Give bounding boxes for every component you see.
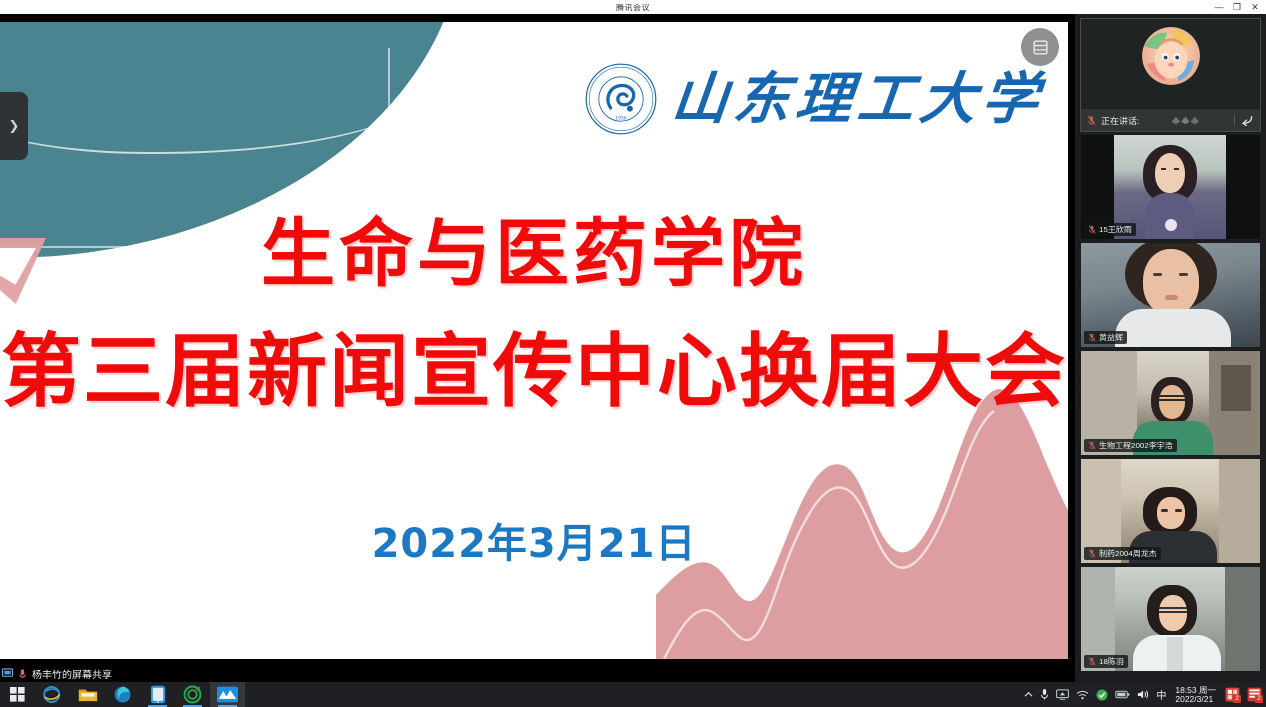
wifi-glyph <box>1076 689 1089 700</box>
window-controls: — ❐ ✕ <box>1210 0 1264 14</box>
screen-share-icon[interactable] <box>1056 689 1069 700</box>
avatar-cartoon-icon <box>1142 27 1200 85</box>
audio-waveform-icon <box>1145 114 1229 126</box>
layout-panel-icon[interactable] <box>1021 28 1059 66</box>
microphone-muted-icon <box>17 668 28 679</box>
mic-muted-icon <box>1088 333 1096 342</box>
screen-share-glyph <box>1056 689 1069 700</box>
participant-tile[interactable]: 制药2004周龙杰 <box>1081 459 1260 563</box>
360-browser-icon <box>183 685 202 704</box>
minimize-button[interactable]: — <box>1210 0 1228 14</box>
internet-explorer-button[interactable] <box>35 682 70 707</box>
slide-title-line-1: 生命与医药学院 <box>0 194 1068 301</box>
svg-text:1956: 1956 <box>615 117 626 122</box>
wifi-icon[interactable] <box>1076 689 1089 700</box>
window-title: 腾讯会议 <box>616 2 650 12</box>
layout-panel-glyph <box>1031 38 1050 57</box>
participant-name-chip: 18陈羽 <box>1084 655 1128 668</box>
battery-glyph <box>1115 690 1130 699</box>
speaker-glyph <box>1137 689 1149 700</box>
folder-icon <box>78 686 98 703</box>
participant-name: 18陈羽 <box>1099 656 1124 666</box>
university-name-text: 山东理工大学 <box>669 71 1047 127</box>
shield-icon[interactable] <box>1096 689 1108 701</box>
divider <box>1234 114 1235 126</box>
participant-name-chip: 黄益辉 <box>1084 331 1127 344</box>
phone-icon <box>150 685 166 704</box>
microphone-icon[interactable] <box>1040 688 1049 701</box>
taskbar-clock[interactable]: 18:53 周一 2022/3/21 <box>1175 686 1216 704</box>
mic-muted-icon <box>1088 441 1096 450</box>
ime-indicator[interactable]: 中 <box>1156 687 1166 702</box>
waveform-glyph <box>1167 114 1207 126</box>
avatar-glyph <box>1142 27 1200 85</box>
system-tray[interactable]: 中 18:53 周一 2022/3/21 2 2 <box>1024 682 1266 707</box>
start-button[interactable] <box>0 682 35 707</box>
microsoft-edge-button[interactable] <box>105 682 140 707</box>
slide-date: 2022年3月21日 <box>0 511 1068 569</box>
mic-muted-icon <box>1087 115 1096 126</box>
university-logo: 1956 山东理工大学 <box>584 62 1044 136</box>
shield-glyph <box>1096 689 1108 701</box>
taskbar-app-list <box>0 682 245 707</box>
battery-icon[interactable] <box>1115 690 1130 699</box>
clock-date: 2022/3/21 <box>1175 695 1213 704</box>
badge-count: 2 <box>1255 695 1263 703</box>
participant-tile[interactable]: 生物工程2002李宇浩 <box>1081 351 1260 455</box>
chevron-up-glyph <box>1024 690 1033 699</box>
presentation-slide: 1956 山东理工大学 生命与医药学院 第三届新闻宣传中心换届大会 2022年3… <box>0 22 1068 659</box>
clock-time: 18:53 周一 <box>1175 686 1216 695</box>
phone-link-button[interactable] <box>140 682 175 707</box>
maximize-button[interactable]: ❐ <box>1228 0 1246 14</box>
participant-rail[interactable]: 正在讲话: <box>1075 14 1266 682</box>
screen-share-icon <box>2 668 13 679</box>
share-status-text: 杨丰竹的屏幕共享 <box>32 666 112 680</box>
360-browser-button[interactable] <box>175 682 210 707</box>
participant-tile[interactable]: 15王欣雨 <box>1081 135 1260 239</box>
participant-name: 15王欣雨 <box>1099 224 1132 234</box>
participant-name: 制药2004周龙杰 <box>1099 548 1157 558</box>
university-seal-icon: 1956 <box>584 62 658 136</box>
badge-count: 2 <box>1233 695 1241 703</box>
participant-name-chip: 15王欣雨 <box>1084 223 1136 236</box>
windows-taskbar[interactable]: 中 18:53 周一 2022/3/21 2 2 <box>0 682 1266 707</box>
participant-name: 生物工程2002李宇浩 <box>1099 440 1173 450</box>
mic-muted-icon <box>1088 225 1096 234</box>
mic-muted-icon <box>1088 657 1096 666</box>
window-title-bar[interactable]: 腾讯会议 — ❐ ✕ <box>0 0 1266 14</box>
wechat-taskbar-badge[interactable]: 2 <box>1247 687 1262 702</box>
slide-title-line-2: 第三届新闻宣传中心换届大会 <box>0 307 1068 423</box>
share-status-bar: 杨丰竹的屏幕共享 <box>0 664 1075 682</box>
tencent-meeting-icon <box>217 686 238 703</box>
participant-tile-speaking[interactable]: 正在讲话: <box>1081 19 1260 131</box>
edge-icon <box>113 685 132 704</box>
tencent-meeting-button[interactable] <box>210 682 245 707</box>
mic-muted-icon <box>1088 549 1096 558</box>
internet-explorer-icon <box>43 685 62 704</box>
qq-taskbar-badge[interactable]: 2 <box>1225 687 1240 702</box>
close-button[interactable]: ✕ <box>1246 0 1264 14</box>
chevron-up-icon[interactable] <box>1024 690 1033 699</box>
return-arrow-icon[interactable] <box>1240 115 1254 126</box>
speaker-icon[interactable] <box>1137 689 1149 700</box>
participant-name: 黄益辉 <box>1099 332 1123 342</box>
participant-tile[interactable]: 18陈羽 <box>1081 567 1260 671</box>
participant-name-chip: 制药2004周龙杰 <box>1084 547 1161 560</box>
windows-logo-icon <box>10 687 25 702</box>
speaking-status-label: 正在讲话: <box>1101 114 1140 126</box>
participant-tile[interactable]: 黄益辉 <box>1081 243 1260 347</box>
microphone-glyph <box>1040 688 1049 701</box>
participant-name-chip: 生物工程2002李宇浩 <box>1084 439 1177 452</box>
speaking-status-bar: 正在讲话: <box>1081 109 1260 131</box>
chevron-right-icon[interactable]: ❯ <box>0 92 28 160</box>
file-explorer-button[interactable] <box>70 682 105 707</box>
shared-screen-stage[interactable]: 1956 山东理工大学 生命与医药学院 第三届新闻宣传中心换届大会 2022年3… <box>0 14 1075 664</box>
